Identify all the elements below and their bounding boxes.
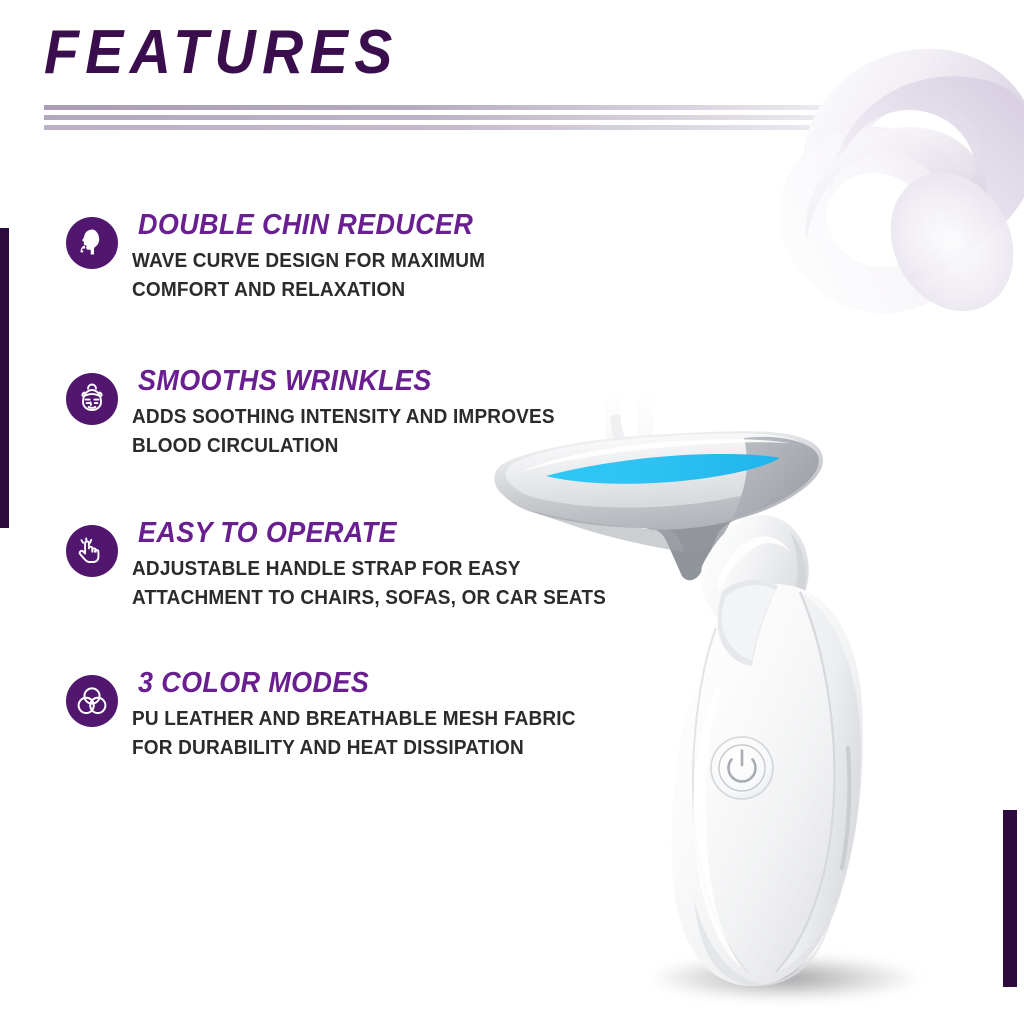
feature-body: DOUBLE CHIN REDUCER WAVE CURVE DESIGN FO… xyxy=(132,210,626,305)
wrinkled-face-icon xyxy=(66,373,118,425)
right-accent-bar xyxy=(1003,810,1017,987)
left-accent-bar xyxy=(0,228,9,528)
header-rule-2 xyxy=(44,115,1004,120)
feature-list: DOUBLE CHIN REDUCER WAVE CURVE DESIGN FO… xyxy=(66,210,626,810)
feature-item: SMOOTHS WRINKLES ADDS SOOTHING INTENSITY… xyxy=(66,366,626,486)
page-title: FEATURES xyxy=(44,22,872,84)
feature-description-line: PU LEATHER AND BREATHABLE MESH FABRIC xyxy=(132,705,601,734)
power-button xyxy=(711,737,773,799)
feature-item: 3 COLOR MODES PU LEATHER AND BREATHABLE … xyxy=(66,668,626,788)
feature-item: DOUBLE CHIN REDUCER WAVE CURVE DESIGN FO… xyxy=(66,210,626,330)
feature-description: WAVE CURVE DESIGN FOR MAXIMUM COMFORT AN… xyxy=(132,247,601,305)
feature-description-line: ADJUSTABLE HANDLE STRAP FOR EASY xyxy=(132,555,606,584)
feature-description-line: BLOOD CIRCULATION xyxy=(132,432,601,461)
feature-title: SMOOTHS WRINKLES xyxy=(138,366,592,396)
chin-profile-icon xyxy=(66,217,118,269)
product-pivot-joint xyxy=(711,573,821,690)
feature-description-line: WAVE CURVE DESIGN FOR MAXIMUM xyxy=(132,247,601,276)
feature-title: DOUBLE CHIN REDUCER xyxy=(138,210,592,240)
header-rule-group xyxy=(44,105,1004,135)
feature-description-line: ATTACHMENT TO CHAIRS, SOFAS, OR CAR SEAT… xyxy=(132,584,606,613)
feature-description: ADJUSTABLE HANDLE STRAP FOR EASY ATTACHM… xyxy=(132,555,606,613)
feature-item: EASY TO OPERATE ADJUSTABLE HANDLE STRAP … xyxy=(66,518,626,638)
feature-description-line: COMFORT AND RELAXATION xyxy=(132,276,601,305)
product-handle xyxy=(671,580,862,986)
header-rule-1 xyxy=(44,105,1004,110)
power-symbol-icon xyxy=(729,751,756,782)
feature-title: EASY TO OPERATE xyxy=(138,518,596,548)
product-drop-shadow xyxy=(650,955,920,1001)
feature-description: ADDS SOOTHING INTENSITY AND IMPROVES BLO… xyxy=(132,403,601,461)
header-rule-3 xyxy=(44,125,1004,130)
tapping-hand-icon xyxy=(66,525,118,577)
feature-body: 3 COLOR MODES PU LEATHER AND BREATHABLE … xyxy=(132,668,626,763)
feature-body: EASY TO OPERATE ADJUSTABLE HANDLE STRAP … xyxy=(132,518,631,613)
product-neck xyxy=(701,515,809,632)
three-circles-venn-icon xyxy=(66,675,118,727)
header: FEATURES xyxy=(44,22,944,84)
feature-body: SMOOTHS WRINKLES ADDS SOOTHING INTENSITY… xyxy=(132,366,626,461)
feature-description: PU LEATHER AND BREATHABLE MESH FABRIC FO… xyxy=(132,705,601,763)
feature-title: 3 COLOR MODES xyxy=(138,668,592,698)
feature-description-line: ADDS SOOTHING INTENSITY AND IMPROVES xyxy=(132,403,601,432)
feature-description-line: FOR DURABILITY AND HEAT DISSIPATION xyxy=(132,734,601,763)
features-infographic-page: FEATURES xyxy=(0,0,1024,1024)
